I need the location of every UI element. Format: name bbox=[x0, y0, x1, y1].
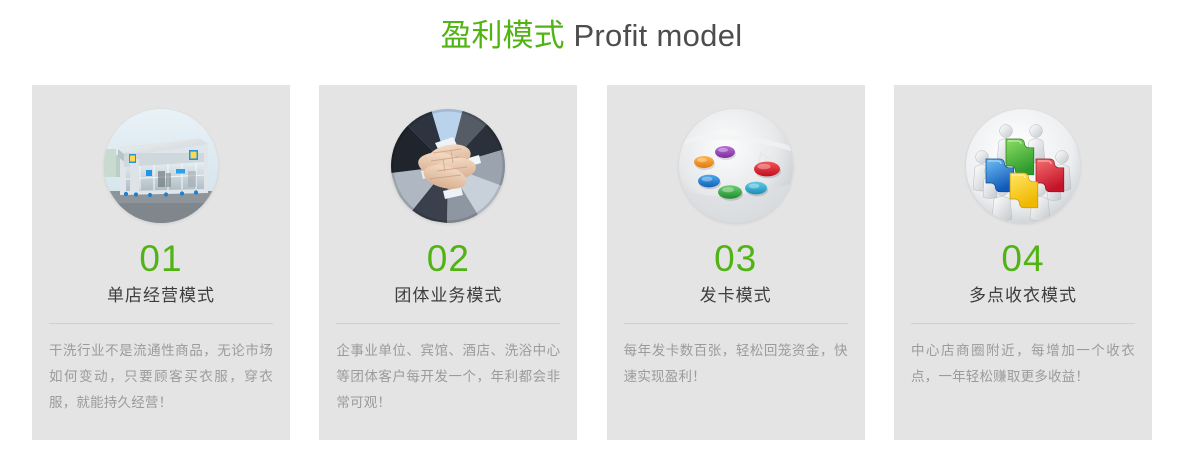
card-body-text: 企事业单位、宾馆、酒店、洗浴中心等团体客户每开发一个，年利都会非常可观！ bbox=[336, 338, 560, 416]
profit-model-card[interactable]: 04 多点收衣模式 中心店商圈附近，每增加一个收衣点，一年轻松赚取更多收益！ bbox=[894, 85, 1152, 440]
card-divider bbox=[624, 323, 848, 324]
card-divider bbox=[336, 323, 560, 324]
card-body-text: 干洗行业不是流通性商品，无论市场如何变动，只要顾客买衣服，穿衣服，就能持久经营！ bbox=[49, 338, 273, 416]
teamwork-hands-photo bbox=[391, 109, 505, 223]
profit-model-card-row: 01 单店经营模式 干洗行业不是流通性商品，无论市场如何变动，只要顾客买衣服，穿… bbox=[32, 85, 1152, 440]
card-number: 02 bbox=[427, 237, 470, 281]
puzzle-teamwork-photo bbox=[966, 109, 1080, 223]
card-divider bbox=[49, 323, 273, 324]
card-body-text: 每年发卡数百张，轻松回笼资金，快速实现盈利！ bbox=[624, 338, 848, 390]
card-title: 多点收衣模式 bbox=[969, 283, 1077, 309]
card-title: 单店经营模式 bbox=[107, 283, 215, 309]
card-divider bbox=[911, 323, 1135, 324]
card-title: 团体业务模式 bbox=[394, 283, 502, 309]
page-title-cn: 盈利模式 bbox=[441, 18, 565, 53]
card-number: 03 bbox=[714, 237, 757, 281]
page-title-en: Profit model bbox=[565, 18, 743, 53]
colored-nodes-sphere-photo bbox=[679, 109, 793, 223]
card-number: 01 bbox=[139, 237, 182, 281]
profit-model-card[interactable]: 02 团体业务模式 企事业单位、宾馆、酒店、洗浴中心等团体客户每开发一个，年利都… bbox=[319, 85, 577, 440]
storefront-photo bbox=[104, 109, 218, 223]
profit-model-card[interactable]: 03 发卡模式 每年发卡数百张，轻松回笼资金，快速实现盈利！ bbox=[607, 85, 865, 440]
profit-model-card[interactable]: 01 单店经营模式 干洗行业不是流通性商品，无论市场如何变动，只要顾客买衣服，穿… bbox=[32, 85, 290, 440]
card-body-text: 中心店商圈附近，每增加一个收衣点，一年轻松赚取更多收益！ bbox=[911, 338, 1135, 390]
profit-model-section: 盈利模式 Profit model bbox=[0, 0, 1183, 450]
card-number: 04 bbox=[1001, 237, 1044, 281]
card-title: 发卡模式 bbox=[700, 283, 772, 309]
page-title: 盈利模式 Profit model bbox=[0, 16, 1183, 56]
